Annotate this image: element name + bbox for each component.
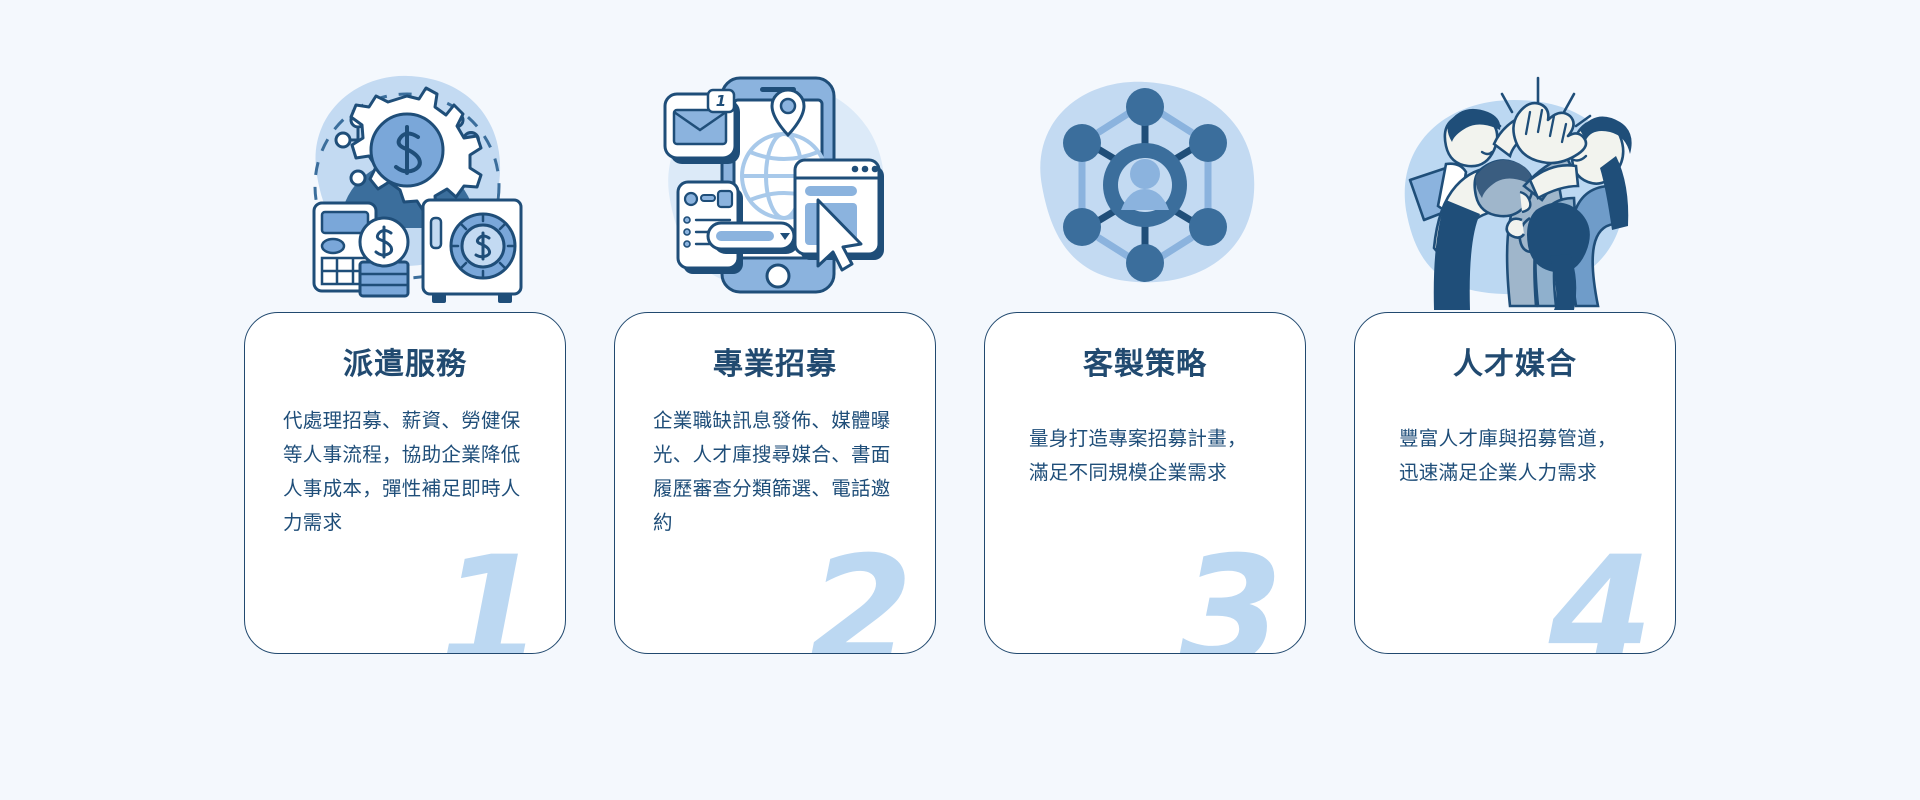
card-description: 量身打造專案招募計畫，滿足不同規模企業需求 — [985, 383, 1305, 491]
services-cards-board: 派遣服務 代處理招募、薪資、勞健保等人事流程，協助企業降低人事成本，彈性補足即時… — [0, 0, 1920, 800]
card-description: 企業職缺訊息發佈、媒體曝光、人才庫搜尋媒合、書面履歷審查分類篩選、電話邀約 — [615, 383, 935, 541]
card-title: 客製策略 — [985, 313, 1305, 383]
card-description: 豐富人才庫與招募管道，迅速滿足企業人力需求 — [1355, 383, 1675, 491]
card-body-4: 人才媒合 豐富人才庫與招募管道，迅速滿足企業人力需求 4 — [1354, 312, 1676, 654]
card-number: 1 — [439, 537, 543, 654]
card-title: 專業招募 — [615, 313, 935, 383]
mobile-job-posting-globe-browser-icon: 1 — [650, 60, 900, 310]
card-body-1: 派遣服務 代處理招募、薪資、勞健保等人事流程，協助企業降低人事成本，彈性補足即時… — [244, 312, 566, 654]
service-card-1[interactable]: 派遣服務 代處理招募、薪資、勞健保等人事流程，協助企業降低人事成本，彈性補足即時… — [244, 60, 566, 730]
card-number: 3 — [1179, 537, 1283, 654]
finance-payroll-gear-safe-calculator-icon — [280, 60, 530, 310]
card-title: 人才媒合 — [1355, 313, 1675, 383]
cards-row: 派遣服務 代處理招募、薪資、勞健保等人事流程，協助企業降低人事成本，彈性補足即時… — [0, 0, 1920, 800]
card-body-3: 客製策略 量身打造專案招募計畫，滿足不同規模企業需求 3 — [984, 312, 1306, 654]
card-title: 派遣服務 — [245, 313, 565, 383]
card-number: 4 — [1549, 537, 1653, 654]
card-description: 代處理招募、薪資、勞健保等人事流程，協助企業降低人事成本，彈性補足即時人力需求 — [245, 383, 565, 541]
network-nodes-person-hub-icon — [1020, 60, 1270, 310]
card-body-2: 專業招募 企業職缺訊息發佈、媒體曝光、人才庫搜尋媒合、書面履歷審查分類篩選、電話… — [614, 312, 936, 654]
card-number: 2 — [809, 537, 913, 654]
team-high-five-people-icon — [1390, 60, 1640, 310]
svg-text:1: 1 — [716, 92, 726, 110]
service-card-4[interactable]: 人才媒合 豐富人才庫與招募管道，迅速滿足企業人力需求 4 — [1354, 60, 1676, 730]
service-card-2[interactable]: 1 — [614, 60, 936, 730]
service-card-3[interactable]: 客製策略 量身打造專案招募計畫，滿足不同規模企業需求 3 — [984, 60, 1306, 730]
